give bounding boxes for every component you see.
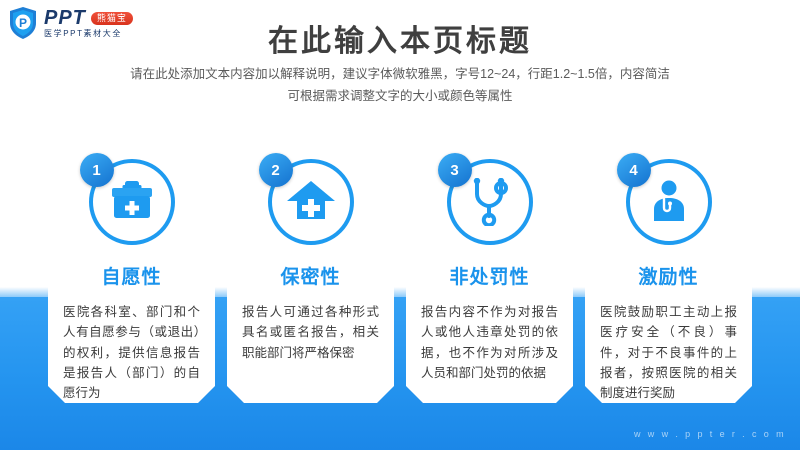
- feature-card-3[interactable]: 3 非处罚性 报告内容不作为对报告人或他人违章处罚的依据，也不作为对所涉及人员和…: [406, 133, 573, 403]
- card-icon-wrap: 3: [447, 159, 533, 245]
- card-title: 非处罚性: [418, 262, 561, 289]
- card-title: 自愿性: [60, 262, 203, 289]
- card-body-text: 报告内容不作为对报告人或他人违章处罚的依据，也不作为对所涉及人员和部门处罚的依据: [418, 302, 561, 383]
- card-body-text: 医院鼓励职工主动上报医疗安全（不良）事件，对于不良事件的上报者，按照医院的相关制…: [597, 302, 740, 403]
- feature-card-4[interactable]: 4 激励性 医院鼓励职工主动上报医疗安全（不良）事件，对于不良事件的上报者，按照…: [585, 133, 752, 403]
- page-title: 在此输入本页标题: [0, 16, 800, 60]
- site-watermark: w w w . p p t e r . c o m: [634, 429, 786, 439]
- card-title: 保密性: [239, 262, 382, 289]
- card-number-badge: 4: [617, 153, 651, 187]
- card-title: 激励性: [597, 262, 740, 289]
- feature-card-2[interactable]: 2 保密性 报告人可通过各种形式具名或匿名报告，相关职能部门将严格保密: [227, 133, 394, 403]
- card-icon-wrap: 1: [89, 159, 175, 245]
- card-body-text: 报告人可通过各种形式具名或匿名报告，相关职能部门将严格保密: [239, 302, 382, 363]
- card-number-badge: 1: [80, 153, 114, 187]
- card-number-badge: 2: [259, 153, 293, 187]
- card-body-text: 医院各科室、部门和个人有自愿参与（或退出）的权利，提供信息报告是报告人（部门）的…: [60, 302, 203, 403]
- subtitle-line-2: 可根据需求调整文字的大小或颜色等属性: [0, 86, 800, 108]
- feature-card-list: 1 自愿性 医院各科室、部门和个人有自愿参与（或退出）的权利，提供信息报告是报告…: [48, 133, 752, 403]
- card-icon-wrap: 2: [268, 159, 354, 245]
- feature-card-1[interactable]: 1 自愿性 医院各科室、部门和个人有自愿参与（或退出）的权利，提供信息报告是报告…: [48, 133, 215, 403]
- card-icon-wrap: 4: [626, 159, 712, 245]
- subtitle-line-1: 请在此处添加文本内容加以解释说明，建议字体微软雅黑，字号12~24，行距1.2~…: [0, 64, 800, 86]
- page-subtitle: 请在此处添加文本内容加以解释说明，建议字体微软雅黑，字号12~24，行距1.2~…: [0, 64, 800, 108]
- card-number-badge: 3: [438, 153, 472, 187]
